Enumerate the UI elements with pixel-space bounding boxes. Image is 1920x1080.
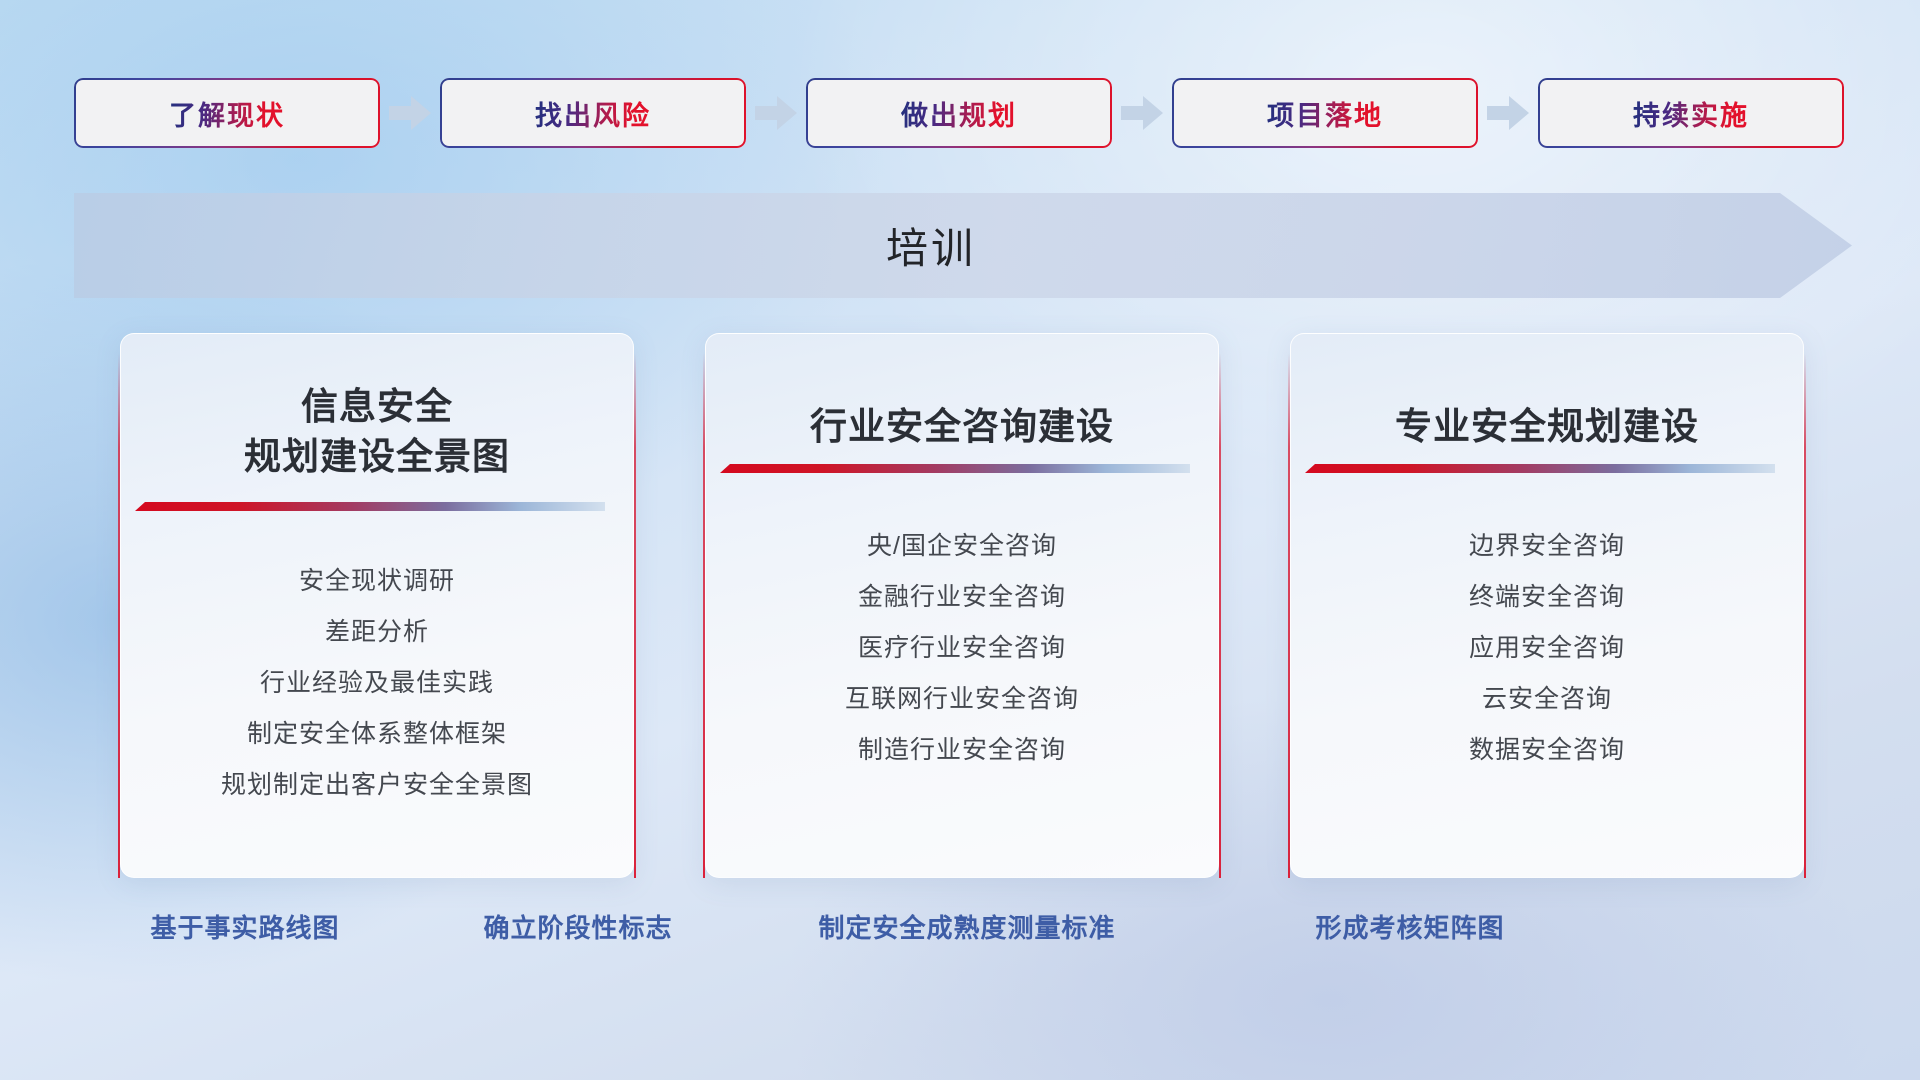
card-item-list: 边界安全咨询终端安全咨询应用安全咨询云安全咨询数据安全咨询: [1291, 534, 1803, 763]
caption-row: 基于事实路线图确立阶段性标志制定安全成熟度测量标准形成考核矩阵图: [0, 908, 1920, 958]
step-label: 了解现状: [169, 94, 285, 133]
step-arrow-icon: [746, 78, 806, 148]
card-body: 专业安全规划建设边界安全咨询终端安全咨询应用安全咨询云安全咨询数据安全咨询: [1290, 333, 1804, 878]
card-item-list: 安全现状调研差距分析行业经验及最佳实践制定安全体系整体框架规划制定出客户安全全景…: [121, 569, 633, 798]
step-label: 持续实施: [1633, 94, 1749, 133]
card-body: 信息安全 规划建设全景图安全现状调研差距分析行业经验及最佳实践制定安全体系整体框…: [120, 333, 634, 878]
step-arrow-icon: [1112, 78, 1172, 148]
list-item: 边界安全咨询: [1291, 534, 1803, 559]
step-label: 项目落地: [1267, 94, 1383, 133]
list-item: 央/国企安全咨询: [706, 534, 1218, 559]
card-title: 行业安全咨询建设: [706, 402, 1218, 452]
list-item: 行业经验及最佳实践: [121, 671, 633, 696]
step-label: 找出风险: [535, 94, 651, 133]
card-title: 专业安全规划建设: [1291, 402, 1803, 452]
banner-title: 培训: [74, 193, 1852, 298]
step-arrow-icon: [1478, 78, 1538, 148]
card-accent-line-right: [1804, 353, 1806, 878]
step-label: 做出规划: [901, 94, 1017, 133]
card-title: 信息安全 规划建设全景图: [121, 382, 633, 481]
list-item: 互联网行业安全咨询: [706, 687, 1218, 712]
card-row: 信息安全 规划建设全景图安全现状调研差距分析行业经验及最佳实践制定安全体系整体框…: [112, 333, 1812, 878]
list-item: 终端安全咨询: [1291, 585, 1803, 610]
card-accent-line-right: [1219, 353, 1221, 878]
step-box-2[interactable]: 找出风险: [440, 78, 746, 148]
caption-label-4: 形成考核矩阵图: [1315, 908, 1504, 945]
step-box-1[interactable]: 了解现状: [74, 78, 380, 148]
service-card-3[interactable]: 专业安全规划建设边界安全咨询终端安全咨询应用安全咨询云安全咨询数据安全咨询: [1282, 333, 1812, 878]
caption-label-1: 基于事实路线图: [150, 908, 339, 945]
card-divider-icon: [1305, 464, 1775, 477]
card-accent-line-right: [634, 353, 636, 878]
card-body: 行业安全咨询建设央/国企安全咨询金融行业安全咨询医疗行业安全咨询互联网行业安全咨…: [705, 333, 1219, 878]
list-item: 数据安全咨询: [1291, 738, 1803, 763]
list-item: 云安全咨询: [1291, 687, 1803, 712]
list-item: 医疗行业安全咨询: [706, 636, 1218, 661]
list-item: 差距分析: [121, 620, 633, 645]
step-box-3[interactable]: 做出规划: [806, 78, 1112, 148]
step-arrow-icon: [380, 78, 440, 148]
list-item: 制定安全体系整体框架: [121, 722, 633, 747]
step-box-4[interactable]: 项目落地: [1172, 78, 1478, 148]
service-card-1[interactable]: 信息安全 规划建设全景图安全现状调研差距分析行业经验及最佳实践制定安全体系整体框…: [112, 333, 642, 878]
training-banner: 培训: [74, 193, 1852, 298]
list-item: 金融行业安全咨询: [706, 585, 1218, 610]
card-divider-icon: [135, 502, 605, 515]
card-divider-icon: [720, 464, 1190, 477]
process-step-row: 了解现状找出风险做出规划项目落地持续实施: [74, 78, 1846, 148]
caption-label-3: 制定安全成熟度测量标准: [818, 908, 1115, 945]
list-item: 制造行业安全咨询: [706, 738, 1218, 763]
service-card-2[interactable]: 行业安全咨询建设央/国企安全咨询金融行业安全咨询医疗行业安全咨询互联网行业安全咨…: [697, 333, 1227, 878]
card-item-list: 央/国企安全咨询金融行业安全咨询医疗行业安全咨询互联网行业安全咨询制造行业安全咨…: [706, 534, 1218, 763]
slide-canvas: 了解现状找出风险做出规划项目落地持续实施 培训 信息安全 规划建设全景图安全现状…: [0, 0, 1920, 1080]
list-item: 规划制定出客户安全全景图: [121, 773, 633, 798]
list-item: 应用安全咨询: [1291, 636, 1803, 661]
list-item: 安全现状调研: [121, 569, 633, 594]
step-box-5[interactable]: 持续实施: [1538, 78, 1844, 148]
caption-label-2: 确立阶段性标志: [483, 908, 672, 945]
